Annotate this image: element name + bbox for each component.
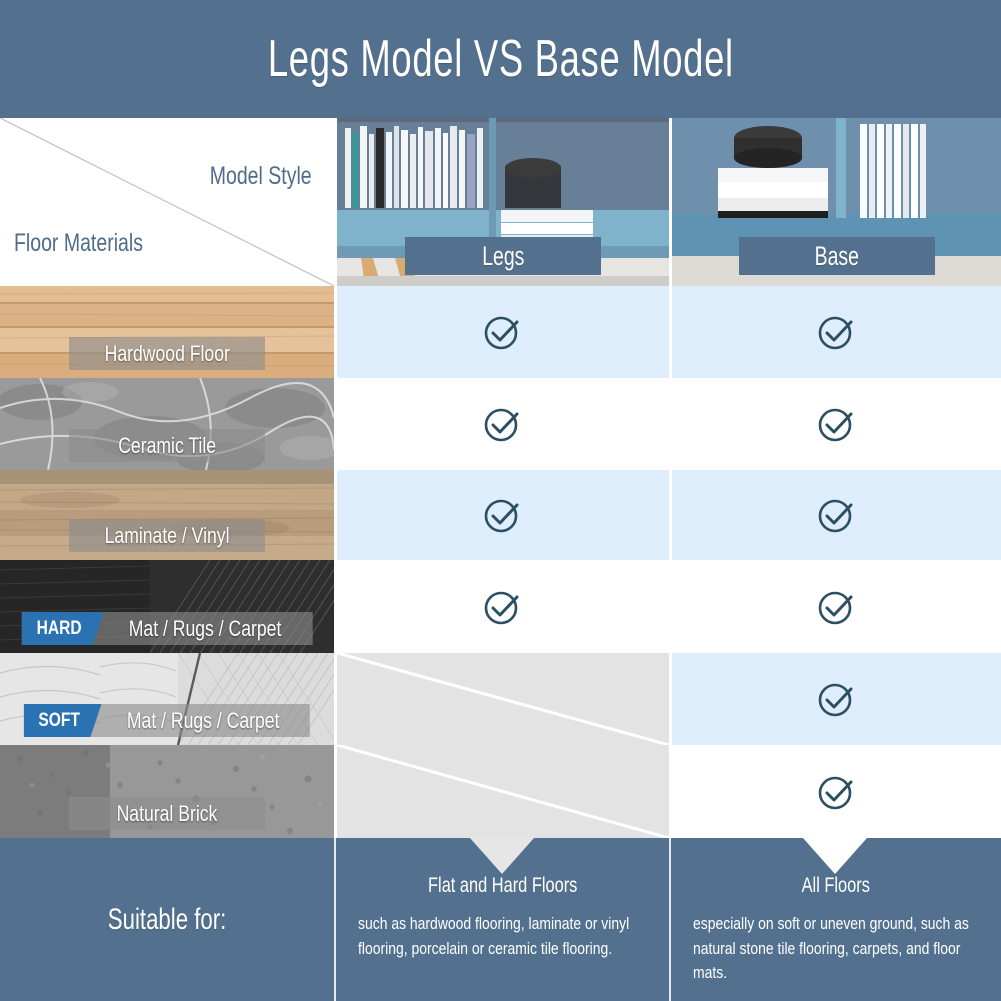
hard-tag-label: HARD bbox=[37, 618, 82, 640]
column-separator-left bbox=[334, 118, 337, 838]
cell-base-hardwood-floor bbox=[672, 286, 1001, 378]
column-separator-right bbox=[669, 118, 672, 838]
cell-legs-ceramic-tile bbox=[337, 378, 669, 470]
footer-separator-left bbox=[334, 838, 336, 1001]
check-circle-icon bbox=[815, 493, 859, 537]
page-title: Legs Model VS Base Model bbox=[267, 29, 733, 89]
cell-legs-hardwood-floor bbox=[337, 286, 669, 378]
laminate-vinyl-banner: Laminate / Vinyl bbox=[69, 519, 265, 552]
check-circle-icon bbox=[815, 310, 859, 354]
legs-header-banner: Legs bbox=[405, 237, 601, 275]
hardwood-floor-label: Hardwood Floor bbox=[104, 341, 229, 367]
natural-brick-label: Natural Brick bbox=[117, 801, 218, 827]
soft-tag-badge: SOFT bbox=[24, 704, 102, 737]
hard-mat-rugs-carpet-banner: HARD Mat / Rugs / Carpet bbox=[22, 612, 313, 645]
legs-footer-title: Flat and Hard Floors bbox=[428, 874, 577, 898]
legs-column-header: Legs bbox=[337, 118, 669, 286]
comparison-infographic: Legs Model VS Base Model Model Style Flo… bbox=[0, 0, 1001, 1001]
base-footer-body: especially on soft or uneven ground, suc… bbox=[693, 912, 979, 986]
row-material-natural-brick: Natural Brick bbox=[0, 745, 334, 838]
cell-base-laminate-vinyl bbox=[672, 470, 1001, 560]
cell-base-soft-mat-rugs-carpet bbox=[672, 653, 1001, 745]
ceramic-tile-label: Ceramic Tile bbox=[118, 433, 216, 459]
cell-legs-laminate-vinyl bbox=[337, 470, 669, 560]
not-supported-strike-icon bbox=[337, 745, 669, 838]
row-material-hard-mat-rugs-carpet: HARD Mat / Rugs / Carpet bbox=[0, 560, 334, 653]
not-supported-strike-icon bbox=[337, 653, 669, 745]
soft-mat-rugs-carpet-label: Mat / Rugs / Carpet bbox=[127, 708, 280, 734]
cell-legs-hard-mat-rugs-carpet bbox=[337, 560, 669, 653]
cell-base-natural-brick bbox=[672, 745, 1001, 838]
base-column-header: Base bbox=[672, 118, 1001, 286]
cell-base-ceramic-tile bbox=[672, 378, 1001, 470]
check-circle-icon bbox=[815, 585, 859, 629]
check-circle-icon bbox=[481, 310, 525, 354]
ceramic-tile-banner: Ceramic Tile bbox=[69, 429, 265, 462]
base-footer-title-wrap: All Floors bbox=[693, 874, 979, 898]
suitable-for-label: Suitable for: bbox=[108, 903, 226, 937]
natural-brick-banner: Natural Brick bbox=[69, 797, 265, 830]
legs-header-label: Legs bbox=[482, 241, 524, 272]
check-circle-icon bbox=[481, 402, 525, 446]
base-footer-cell: All Floors especially on soft or uneven … bbox=[671, 838, 1001, 1001]
cell-base-hard-mat-rugs-carpet bbox=[672, 560, 1001, 653]
hard-tag-badge: HARD bbox=[22, 612, 104, 645]
legs-footer-title-wrap: Flat and Hard Floors bbox=[358, 874, 647, 898]
suitable-for-cell: Suitable for: bbox=[0, 838, 334, 1001]
soft-mat-rugs-carpet-banner: SOFT Mat / Rugs / Carpet bbox=[24, 704, 310, 737]
check-circle-icon bbox=[481, 493, 525, 537]
hardwood-floor-banner: Hardwood Floor bbox=[69, 337, 265, 370]
base-footer-title: All Floors bbox=[802, 874, 870, 898]
check-circle-icon bbox=[481, 585, 525, 629]
base-header-label: Base bbox=[814, 241, 858, 272]
check-circle-icon bbox=[815, 402, 859, 446]
floor-materials-label: Floor Materials bbox=[14, 229, 143, 258]
row-material-hardwood-floor: Hardwood Floor bbox=[0, 286, 334, 378]
footer-separator-right bbox=[669, 838, 671, 1001]
row-material-laminate-vinyl: Laminate / Vinyl bbox=[0, 470, 334, 560]
corner-diagonal-divider bbox=[0, 118, 334, 286]
legs-footer-cell: Flat and Hard Floors such as hardwood fl… bbox=[336, 838, 669, 1001]
model-style-label: Model Style bbox=[210, 162, 312, 191]
soft-tag-label: SOFT bbox=[38, 710, 80, 732]
check-circle-icon bbox=[815, 770, 859, 814]
legs-footer-body: such as hardwood flooring, laminate or v… bbox=[358, 912, 647, 961]
hard-mat-rugs-carpet-label: Mat / Rugs / Carpet bbox=[129, 616, 282, 642]
page-title-bar: Legs Model VS Base Model bbox=[0, 0, 1001, 118]
footer-bar: Suitable for: Flat and Hard Floors such … bbox=[0, 838, 1001, 1001]
row-material-soft-mat-rugs-carpet: SOFT Mat / Rugs / Carpet bbox=[0, 653, 334, 745]
check-circle-icon bbox=[815, 677, 859, 721]
laminate-vinyl-label: Laminate / Vinyl bbox=[105, 523, 230, 549]
cell-legs-natural-brick bbox=[337, 745, 669, 838]
corner-header-cell: Model Style Floor Materials bbox=[0, 118, 334, 286]
row-material-ceramic-tile: Ceramic Tile bbox=[0, 378, 334, 470]
base-header-banner: Base bbox=[739, 237, 935, 275]
cell-legs-soft-mat-rugs-carpet bbox=[337, 653, 669, 745]
